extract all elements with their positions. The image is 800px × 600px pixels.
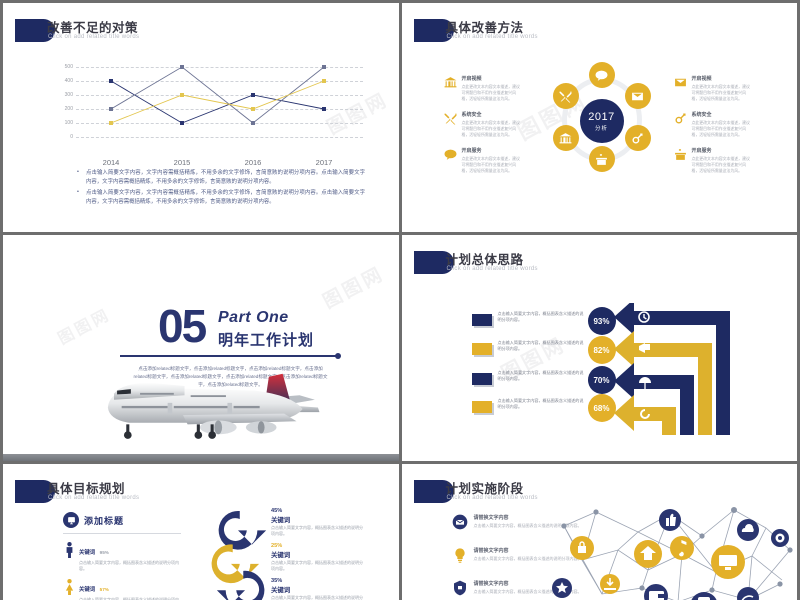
keyword-label: 关键词 [79,587,95,593]
keyword-desc: 点击输入简要文字内容，概括图表含义描述的说明分项内容。 [271,560,366,571]
legend-swatch [472,401,492,413]
keyword-value: 95% [100,550,109,555]
slide-grid: 图图网 改善不足的对策 Click on add related title w… [0,0,800,600]
item-body: 点此更改文本内容文本描述，建议可将题目和不用作业描述复兴风格，活轻轻所需量这法为… [692,84,754,102]
center-label: 分析 [595,124,608,132]
key-icon [631,132,644,145]
section-en-title: Part One [218,309,289,327]
slide-part-one: 图图网 图图网 05 Part One 明年工作计划 点击添加related标题… [3,235,399,461]
slide-overall-plan: 图图网 计划总体思路 Click on add related title wo… [402,235,798,461]
arrow-diagram [612,303,752,443]
goal-item-2[interactable]: 关键词 57% 点击输入简要文字内容，概括图表含义描述的说明分项内容。 [63,578,181,600]
plan-row-4[interactable]: 点击输入简要文字内容，概括图表含义描述的说明分项内容。 [472,398,582,420]
node-bank[interactable] [553,125,579,151]
item-title: 开启服务 [692,147,754,154]
page-subtitle: Click on add related title words [48,34,139,40]
x-tick: 2014 [103,158,120,167]
item-body: 点此更改文本内容文本描述，建议可将题目和不用作业描述复兴风格，活轻轻所需量这法为… [692,156,754,174]
keyword-label: 关键词 [271,515,366,524]
chat-icon [444,148,457,161]
gift-icon [674,148,687,161]
list-item: 点击输入简要文字内容，文字内容需概括精炼，不用多余的文字修饰，言简意赅的说明分项… [75,189,365,206]
diagram-center: 2017 分析 [580,99,624,143]
part-one-body: 05 Part One 明年工作计划 点击添加related标题文字，点击添加r… [3,235,399,461]
slide-improvement-countermeasures: 图图网 改善不足的对策 Click on add related title w… [3,3,399,232]
page-subtitle: Click on add related title words [447,34,538,40]
envelope-badge-icon [452,514,468,530]
percent-value: 35% [271,578,366,584]
person-male-icon [65,542,74,558]
chart-plot [51,59,363,151]
item-title: 系统安全 [462,111,524,118]
node-envelope[interactable] [625,83,651,109]
method-item-left-3[interactable]: 开启服务 点此更改文本内容文本描述，建议可将题目和不用作业描述复兴风格，活轻轻所… [444,147,524,174]
shield-icon [452,580,468,596]
plan-row-1[interactable]: 点击输入简要文字内容，概括图表含义描述的说明分项内容。 [472,311,582,333]
runway-strip [3,454,399,461]
section-cn-title: 明年工作计划 [218,329,314,350]
item-body: 点此更改文本内容文本描述，建议可将题目和不用作业描述复兴风格，活轻轻所需量这法为… [462,84,524,102]
line-chart: 500 400 300 200 100 0 2014 2015 2016 201… [51,59,363,151]
keyword-desc: 点击输入简要文字内容，概括图表含义描述的说明分项内容。 [79,560,181,571]
x-tick: 2016 [245,158,262,167]
wifi-icon [737,587,759,600]
center-year: 2017 [588,111,614,123]
node-gift[interactable] [589,146,615,172]
hexagon-diagram: 2017 分析 [550,65,654,175]
method-item-right-1[interactable]: 开启视频 点此更改文本内容文本描述，建议可将题目和不用作业描述复兴风格，活轻轻所… [674,75,754,102]
method-item-left-2[interactable]: 系统安全 点此更改文本内容文本描述，建议可将题目和不用作业描述复兴风格，活轻轻所… [444,111,524,138]
legend-swatch [472,373,492,385]
method-item-left-1[interactable]: 开启视频 点此更改文本内容文本描述，建议可将题目和不用作业描述复兴风格，活轻轻所… [444,75,524,102]
goal-item-1[interactable]: 关键词 95% 点击输入简要文字内容，概括图表含义描述的说明分项内容。 [63,541,181,571]
page-subtitle: Click on add related title words [447,266,538,272]
page-subtitle: Click on add related title words [447,495,538,501]
tools-icon [444,112,457,125]
percent-value: 45% [271,508,366,514]
goal-right-item-3[interactable]: 35% 关键词 点击输入简要文字内容，概括图表含义描述的说明分项内容。 [271,578,366,600]
presentation-icon [63,512,79,528]
item-title: 系统安全 [692,111,754,118]
slide-implementation-phase: 计划实施阶段 Click on add related title words … [402,464,798,600]
keyword-desc: 点击输入简要文字内容，概括图表含义描述的说明分项内容。 [271,595,366,600]
chat-icon [595,69,608,82]
slide-goal-planning: 具体目标规划 Click on add related title words … [3,464,399,600]
slide-header: 计划总体思路 Click on add related title words [414,249,788,283]
legend-swatch [472,343,492,355]
slide-improvement-methods: 图图网 具体改善方法 Click on add related title wo… [402,3,798,232]
item-title: 开启视频 [692,75,754,82]
node-tools[interactable] [553,83,579,109]
bank-icon [444,76,457,89]
goal-right-item-1[interactable]: 45% 关键词 点击输入简要文字内容，概括图表含义描述的说明分项内容。 [271,508,366,536]
legend-swatch [472,314,492,326]
node-key[interactable] [625,125,651,151]
page-subtitle: Click on add related title words [48,495,139,501]
spiral-arrow-diagram [193,504,283,600]
row-text: 点击输入简要文字内容，概括图表含义描述的说明分项内容。 [498,311,584,323]
lightbulb-icon [452,547,468,563]
divider [63,533,181,534]
list-item: 点击输入简要文字内容，文字内容需概括精炼，不用多余的文字修饰，言简意赅的说明分项… [75,169,365,186]
item-body: 点此更改文本内容文本描述，建议可将题目和不用作业描述复兴风格，活轻轻所需量这法为… [462,156,524,174]
section-number: 05 [158,303,205,349]
item-body: 点此更改文本内容文本描述，建议可将题目和不用作业描述复兴风格，活轻轻所需量这法为… [692,120,754,138]
x-tick: 2015 [174,158,191,167]
item-title: 开启服务 [462,147,524,154]
x-tick: 2017 [316,158,333,167]
tools-icon [559,90,572,103]
keyword-label: 关键词 [271,550,366,559]
keyword-label: 关键词 [79,550,95,556]
goal-right-item-2[interactable]: 25% 关键词 点击输入简要文字内容，概括图表含义描述的说明分项内容。 [271,543,366,571]
divider [120,355,338,357]
network-graph [552,498,797,600]
goal-card: 添加标题 关键词 95% 点击输入简要文字内容，概括图表含义描述的说明分项内容。… [63,512,181,600]
row-text: 点击输入简要文字内容，概括图表含义描述的说明分项内容。 [498,398,584,410]
row-text: 点击输入简要文字内容，概括图表含义描述的说明分项内容。 [498,340,584,352]
music-icon [670,536,694,560]
keyword-desc: 点击输入简要文字内容，概括图表含义描述的说明分项内容。 [271,525,366,536]
percent-value: 25% [271,543,366,549]
envelope-icon [631,90,644,103]
method-item-right-3[interactable]: 开启服务 点此更改文本内容文本描述，建议可将题目和不用作业描述复兴风格，活轻轻所… [674,147,754,174]
envelope-icon [674,76,687,89]
key-icon [674,112,687,125]
person-female-icon [65,579,74,595]
item-body: 点此更改文本内容文本描述，建议可将题目和不用作业描述复兴风格，活轻轻所需量这法为… [462,120,524,138]
slide-header: 改善不足的对策 Click on add related title words [15,17,389,51]
keyword-label: 关键词 [271,585,366,594]
card-header: 添加标题 [63,512,181,528]
gift-icon [595,153,608,166]
plan-row-2[interactable]: 点击输入简要文字内容，概括图表含义描述的说明分项内容。 [472,340,582,362]
row-text: 点击输入简要文字内容，概括图表含义描述的说明分项内容。 [498,370,584,382]
slide-header: 具体改善方法 Click on add related title words [414,17,788,51]
keyword-value: 57% [100,587,109,592]
airplane-photo [91,363,321,455]
method-item-right-2[interactable]: 系统安全 点此更改文本内容文本描述，建议可将题目和不用作业描述复兴风格，活轻轻所… [674,111,754,138]
bullet-list: 点击输入简要文字内容，文字内容需概括精炼，不用多余的文字修饰，言简意赅的说明分项… [75,169,365,209]
plan-row-3[interactable]: 点击输入简要文字内容，概括图表含义描述的说明分项内容。 [472,370,582,392]
item-title: 开启视频 [462,75,524,82]
node-chat[interactable] [589,62,615,88]
bank-icon [559,132,572,145]
card-title: 添加标题 [84,514,124,527]
